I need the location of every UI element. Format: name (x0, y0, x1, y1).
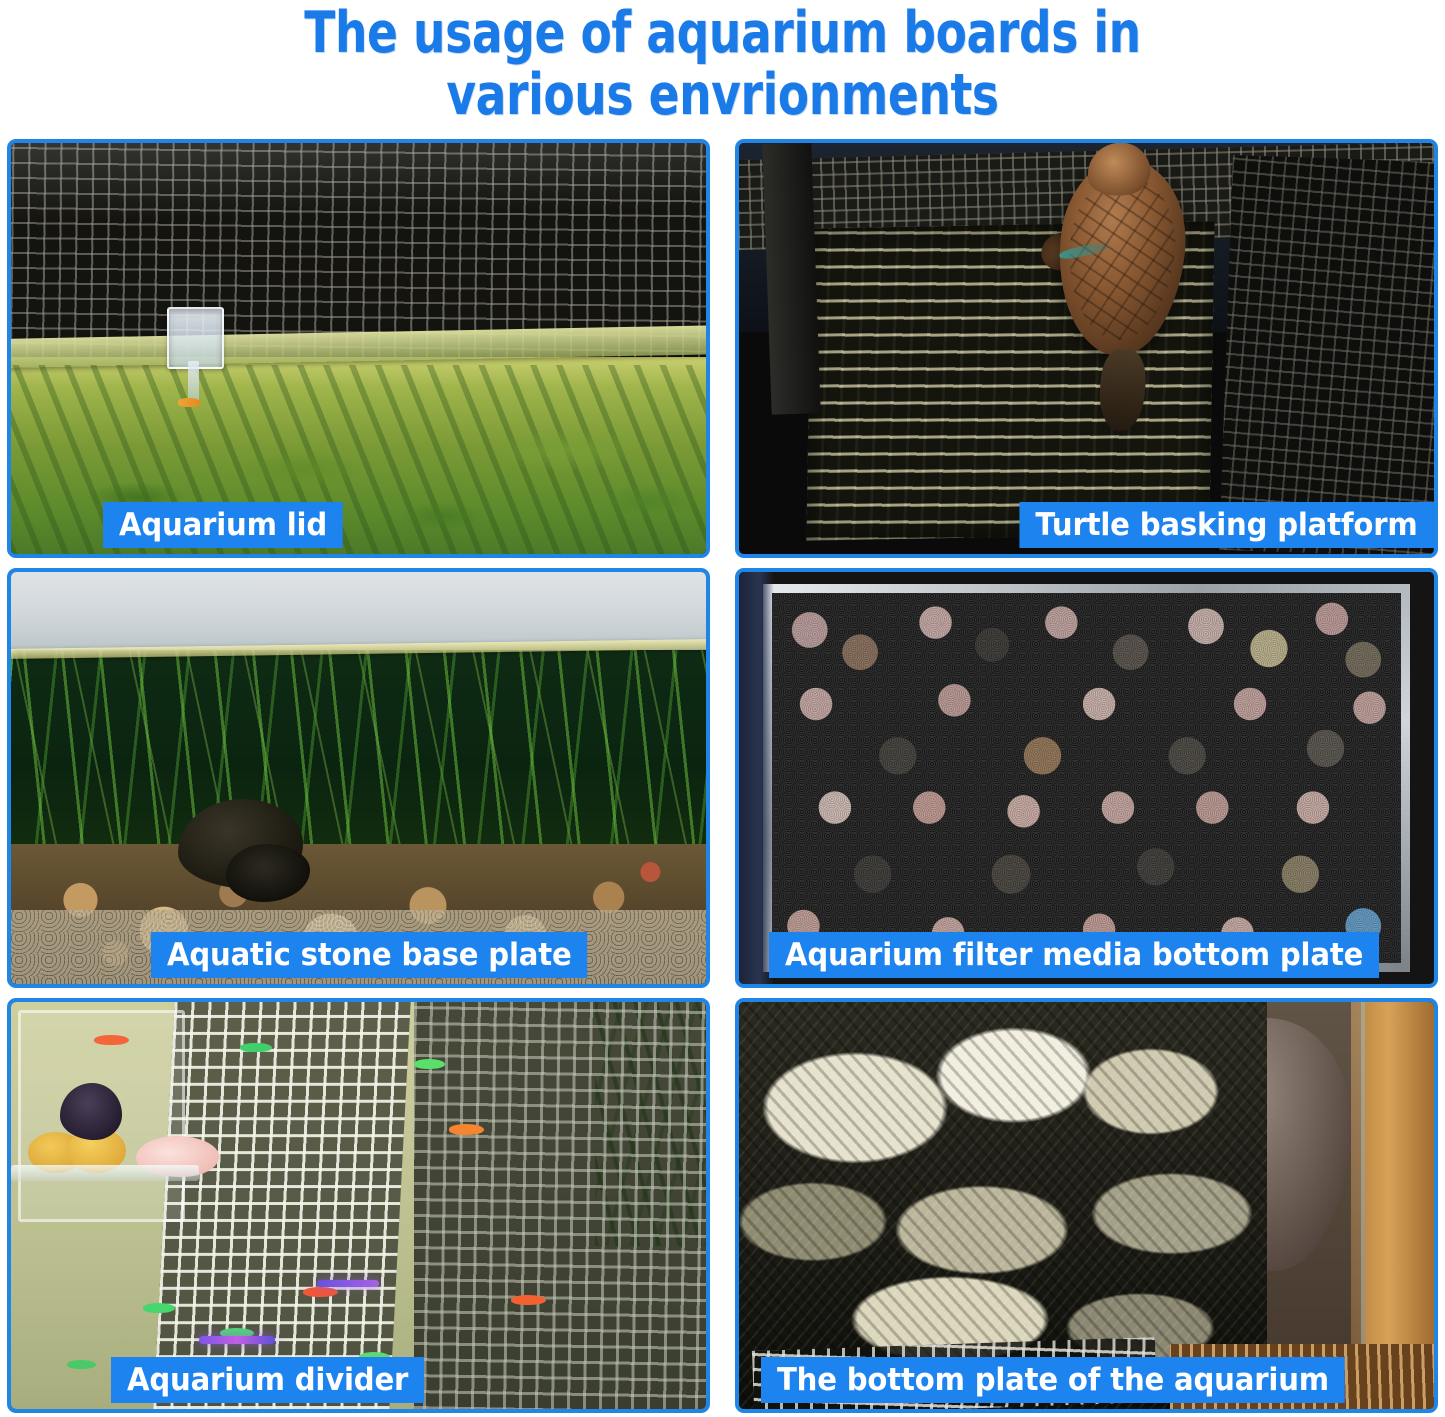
panel-bottom-plate-of-the-aquarium[interactable]: The bottom plate of the aquarium (735, 998, 1438, 1413)
photo-aquarium-lid (11, 143, 706, 554)
panel-aquarium-filter-media-bottom-plate[interactable]: Aquarium filter media bottom plate (735, 568, 1438, 988)
photo-aquarium-divider (11, 1002, 706, 1409)
caption-aquarium-filter-media-bottom-plate: Aquarium filter media bottom plate (769, 932, 1379, 978)
photo-aquatic-stone-base-plate (11, 572, 706, 984)
infographic-poster: The usage of aquarium boards in various … (0, 0, 1445, 1417)
caption-aquarium-divider: Aquarium divider (111, 1357, 424, 1403)
panel-turtle-basking-platform[interactable]: Turtle basking platform (735, 139, 1438, 558)
caption-aquarium-lid: Aquarium lid (103, 502, 343, 548)
caption-bottom-plate-of-the-aquarium: The bottom plate of the aquarium (761, 1357, 1345, 1403)
caption-aquatic-stone-base-plate: Aquatic stone base plate (151, 932, 588, 978)
photo-aquarium-filter-media-bottom-plate (739, 572, 1434, 984)
panel-grid: Aquarium lid Turtle basking platform (7, 139, 1438, 1413)
panel-aquarium-lid[interactable]: Aquarium lid (7, 139, 710, 558)
panel-aquarium-divider[interactable]: Aquarium divider (7, 998, 710, 1413)
panel-aquatic-stone-base-plate[interactable]: Aquatic stone base plate (7, 568, 710, 988)
page-title: The usage of aquarium boards in various … (0, 2, 1445, 126)
photo-turtle-basking-platform (739, 143, 1434, 554)
title-line-2: various envrionments (145, 64, 1301, 126)
title-line-1: The usage of aquarium boards in (145, 2, 1301, 64)
caption-turtle-basking-platform: Turtle basking platform (1020, 502, 1434, 548)
photo-bottom-plate-of-the-aquarium (739, 1002, 1434, 1409)
